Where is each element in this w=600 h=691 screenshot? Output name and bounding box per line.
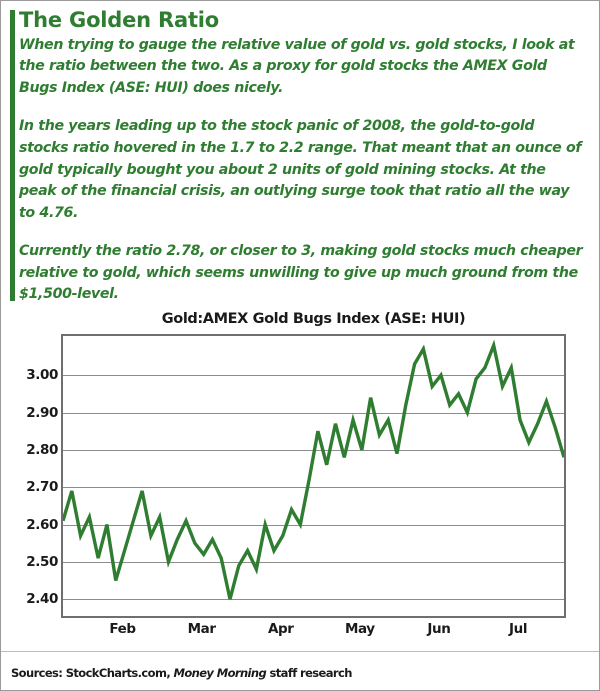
infographic-panel: The Golden Ratio When trying to gauge th… bbox=[0, 0, 600, 691]
page-title: The Golden Ratio bbox=[19, 9, 585, 32]
chart-data-line bbox=[63, 336, 564, 616]
y-axis-tick-label: 2.60 bbox=[10, 517, 58, 533]
y-axis-tick-label: 2.80 bbox=[10, 442, 58, 458]
commentary-paragraph-2: In the years leading up to the stock pan… bbox=[19, 116, 585, 224]
x-axis-tick-label: Jul bbox=[488, 621, 548, 637]
x-axis-tick-label: May bbox=[330, 621, 390, 637]
accent-bar bbox=[10, 10, 15, 301]
commentary-paragraph-1: When trying to gauge the relative value … bbox=[19, 35, 585, 100]
commentary-block: The Golden Ratio When trying to gauge th… bbox=[1, 1, 600, 301]
x-axis-tick-label: Apr bbox=[251, 621, 311, 637]
x-axis-tick-label: Jun bbox=[409, 621, 469, 637]
x-axis-tick-label: Mar bbox=[172, 621, 232, 637]
chart-container: Gold:AMEX Gold Bugs Index (ASE: HUI) 3.0… bbox=[1, 301, 600, 651]
chart-plot-area bbox=[61, 334, 566, 618]
y-axis-tick-label: 3.00 bbox=[10, 367, 58, 383]
y-axis-tick-label: 2.70 bbox=[10, 479, 58, 495]
source-publication: Money Morning bbox=[174, 666, 267, 680]
y-axis-tick-label: 2.50 bbox=[10, 554, 58, 570]
x-axis-tick-label: Feb bbox=[93, 621, 153, 637]
source-suffix: staff research bbox=[266, 666, 352, 680]
chart-title: Gold:AMEX Gold Bugs Index (ASE: HUI) bbox=[61, 311, 566, 327]
commentary-paragraph-3: Currently the ratio 2.78, or closer to 3… bbox=[19, 241, 585, 306]
footer: Sources: StockCharts.com, Money Morning … bbox=[1, 651, 600, 691]
source-attribution: Sources: StockCharts.com, Money Morning … bbox=[11, 666, 352, 680]
y-axis-tick-label: 2.90 bbox=[10, 405, 58, 421]
y-axis-tick-label: 2.40 bbox=[10, 591, 58, 607]
source-prefix: Sources: StockCharts.com, bbox=[11, 666, 174, 680]
